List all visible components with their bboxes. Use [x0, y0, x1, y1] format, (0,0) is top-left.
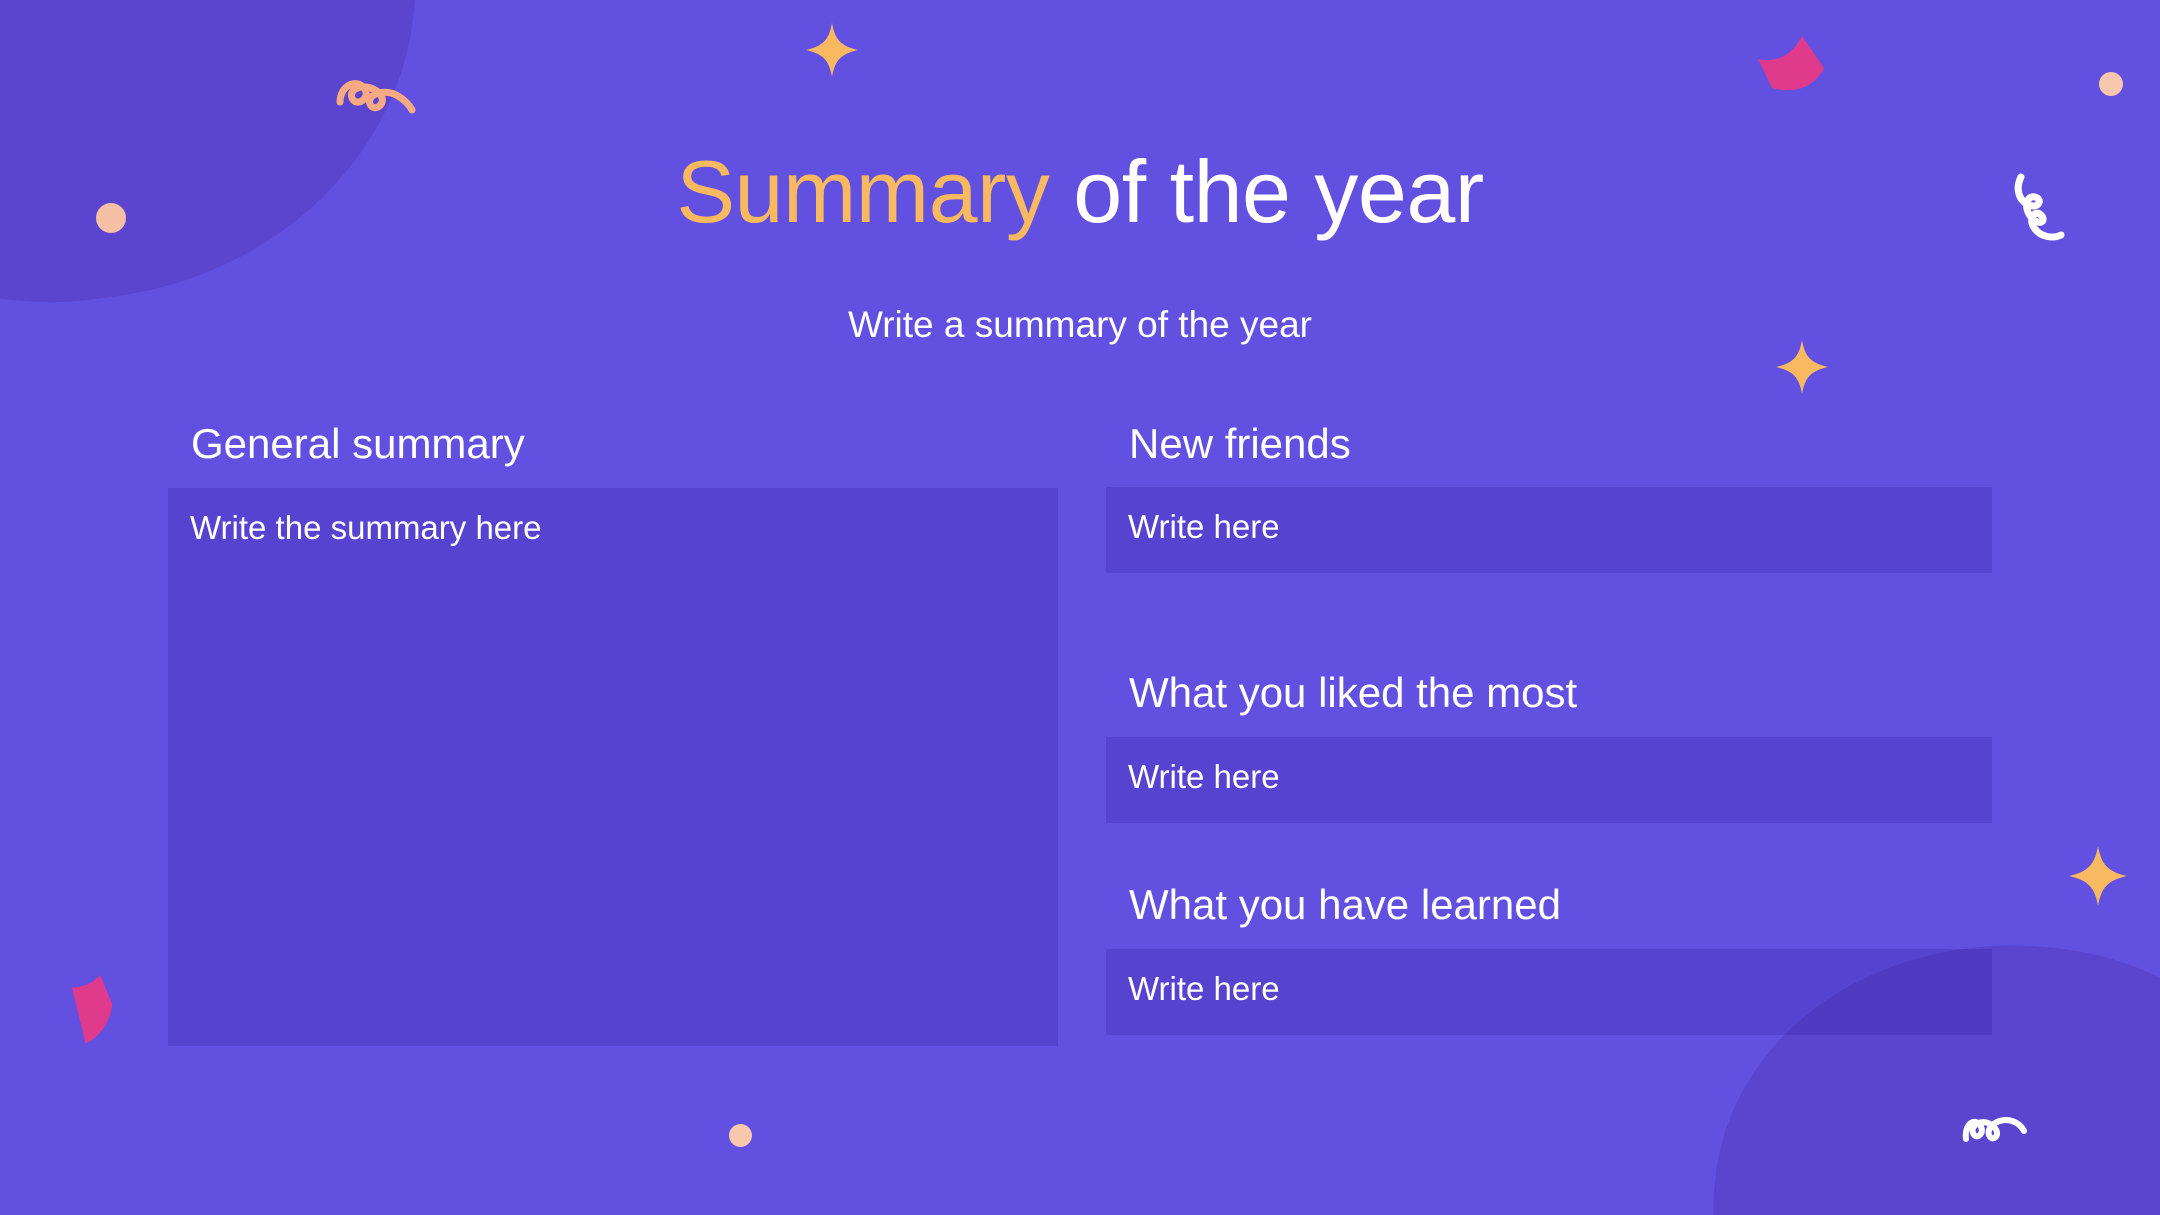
page-title-rest: of the year: [1049, 142, 1483, 241]
have-learned-input[interactable]: Write here: [1106, 949, 1992, 1035]
liked-the-most-placeholder: Write here: [1128, 759, 1280, 795]
general-summary-placeholder: Write the summary here: [190, 510, 542, 546]
general-summary-textarea[interactable]: Write the summary here: [168, 488, 1058, 1046]
new-friends-input[interactable]: Write here: [1106, 487, 1992, 573]
have-learned-placeholder: Write here: [1128, 971, 1280, 1007]
liked-the-most-input[interactable]: Write here: [1106, 737, 1992, 823]
section-heading-have-learned: What you have learned: [1129, 884, 1561, 926]
page-title-accent: Summary: [676, 142, 1049, 241]
page-subtitle: Write a summary of the year: [0, 306, 2160, 343]
section-heading-general-summary: General summary: [191, 423, 525, 465]
section-heading-liked-the-most: What you liked the most: [1129, 672, 1577, 714]
new-friends-placeholder: Write here: [1128, 509, 1280, 545]
page-title: Summary of the year: [0, 148, 2160, 236]
section-heading-new-friends: New friends: [1129, 423, 1351, 465]
slide-canvas: Summary of the year Write a summary of t…: [0, 0, 2160, 1215]
